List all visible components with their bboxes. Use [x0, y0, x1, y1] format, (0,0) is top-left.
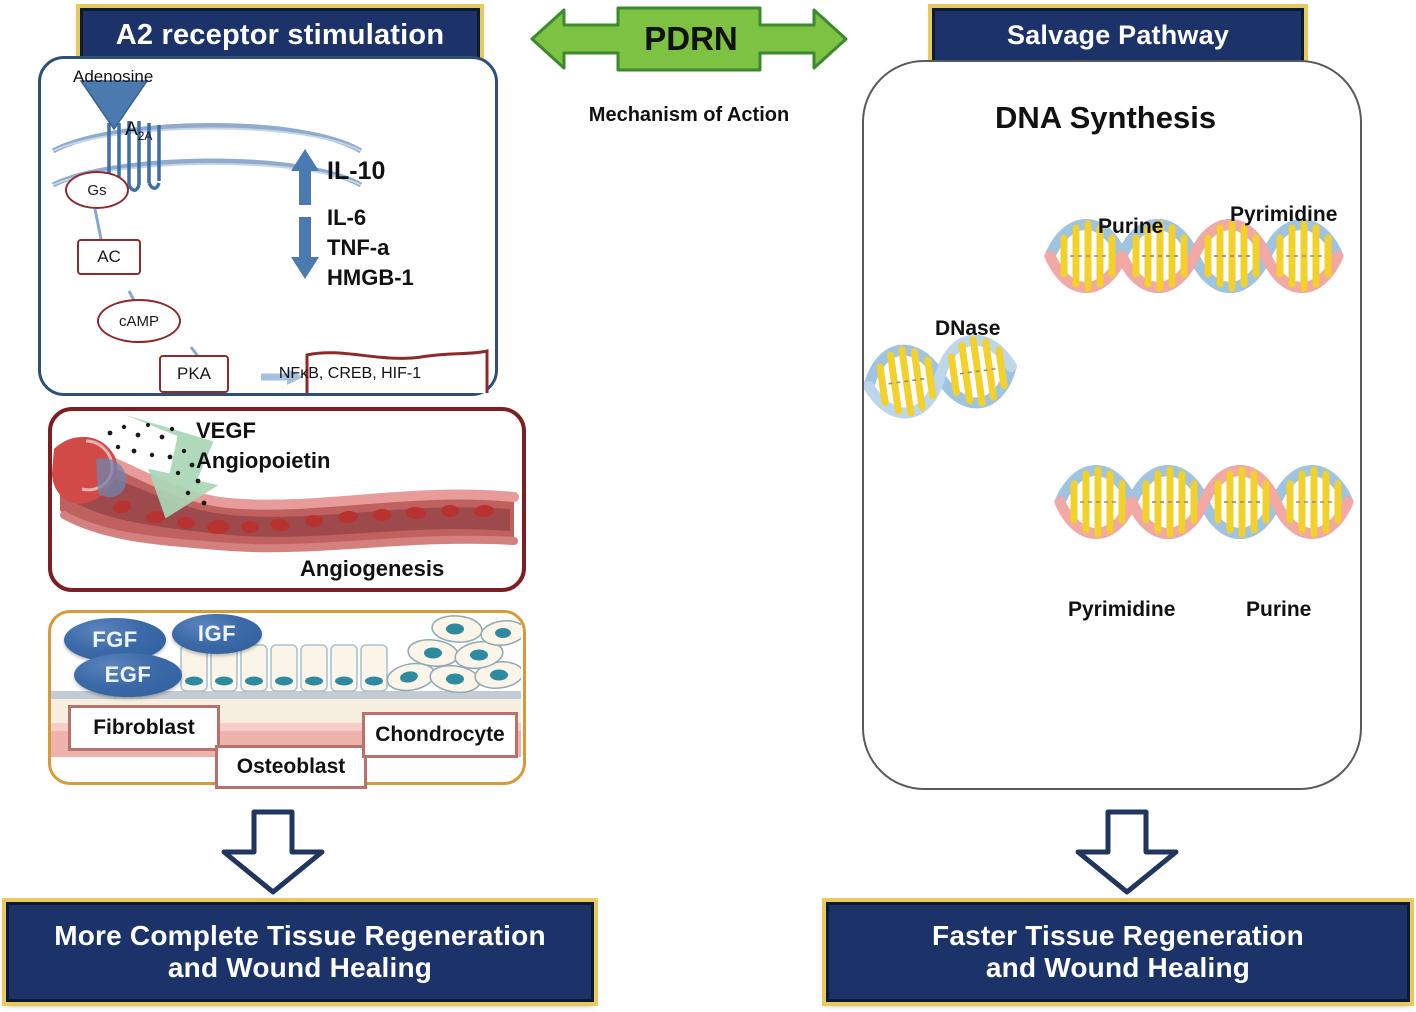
dna-helices-graphic — [864, 62, 1360, 788]
label-pyrimidine-top: Pyrimidine — [1230, 203, 1337, 227]
panel-dna-synthesis — [862, 60, 1362, 790]
a2a-letter: A — [125, 119, 138, 140]
a2a-subscript: 2A — [138, 129, 153, 143]
label-pyrimidine-bottom: Pyrimidine — [1068, 598, 1175, 622]
diagram-canvas: A2 receptor stimulation Salvage Pathway … — [0, 0, 1416, 1012]
label-a2a-receptor: A2A — [125, 119, 152, 143]
panel-receptor-signaling: Adenosine A2A Gs AC cAMP PKA NFκB, CREB,… — [38, 56, 498, 396]
result-left-line1: More Complete Tissue Regeneration — [54, 920, 546, 952]
pdrn-double-arrow: PDRN — [528, 6, 850, 72]
label-adenosine: Adenosine — [73, 67, 153, 87]
label-tnf-a: TNF-a — [327, 235, 389, 261]
label-angiopoietin: Angiopoietin — [196, 448, 330, 474]
label-il10: IL-10 — [327, 157, 385, 186]
growth-factor-egf: EGF — [74, 653, 182, 697]
label-dnase: DNase — [935, 317, 1000, 341]
panel-angiogenesis — [48, 407, 526, 592]
result-right-tissue-regeneration: Faster Tissue Regeneration and Wound Hea… — [826, 902, 1410, 1002]
cytokine-arrows — [289, 147, 329, 297]
label-angiogenesis: Angiogenesis — [300, 556, 444, 582]
result-right-line1: Faster Tissue Regeneration — [932, 920, 1304, 952]
result-left-tissue-regeneration: More Complete Tissue Regeneration and Wo… — [6, 902, 594, 1002]
label-vegf: VEGF — [196, 418, 256, 444]
down-arrow-left — [218, 808, 328, 896]
receptor-cascade-graphic — [41, 59, 495, 393]
label-hmgb1: HMGB-1 — [327, 265, 414, 291]
mechanism-of-action-caption: Mechanism of Action — [528, 104, 850, 134]
result-left-line2: and Wound Healing — [54, 952, 546, 984]
pdrn-label: PDRN — [528, 6, 850, 72]
node-g-protein: Gs — [65, 171, 129, 209]
down-arrow-icon — [291, 217, 319, 279]
down-arrow-right — [1072, 808, 1182, 896]
label-dna-synthesis: DNA Synthesis — [995, 100, 1216, 136]
cell-type-osteoblast: Osteoblast — [215, 745, 367, 789]
label-purine-top: Purine — [1098, 215, 1163, 239]
node-camp: cAMP — [97, 299, 181, 343]
cell-type-fibroblast: Fibroblast — [68, 705, 220, 751]
node-adenylate-cyclase: AC — [77, 239, 141, 275]
result-right-line2: and Wound Healing — [932, 952, 1304, 984]
up-arrow-icon — [291, 149, 319, 205]
blood-vessel-graphic — [52, 411, 522, 588]
label-il6: IL-6 — [327, 205, 366, 231]
growth-factor-igf: IGF — [172, 614, 262, 654]
label-transcription-factors: NFκB, CREB, HIF-1 — [255, 365, 445, 383]
cell-type-chondrocyte: Chondrocyte — [362, 712, 518, 758]
header-salvage-pathway: Salvage Pathway — [932, 8, 1304, 64]
node-pka: PKA — [159, 355, 229, 393]
label-purine-bottom: Purine — [1246, 598, 1311, 622]
